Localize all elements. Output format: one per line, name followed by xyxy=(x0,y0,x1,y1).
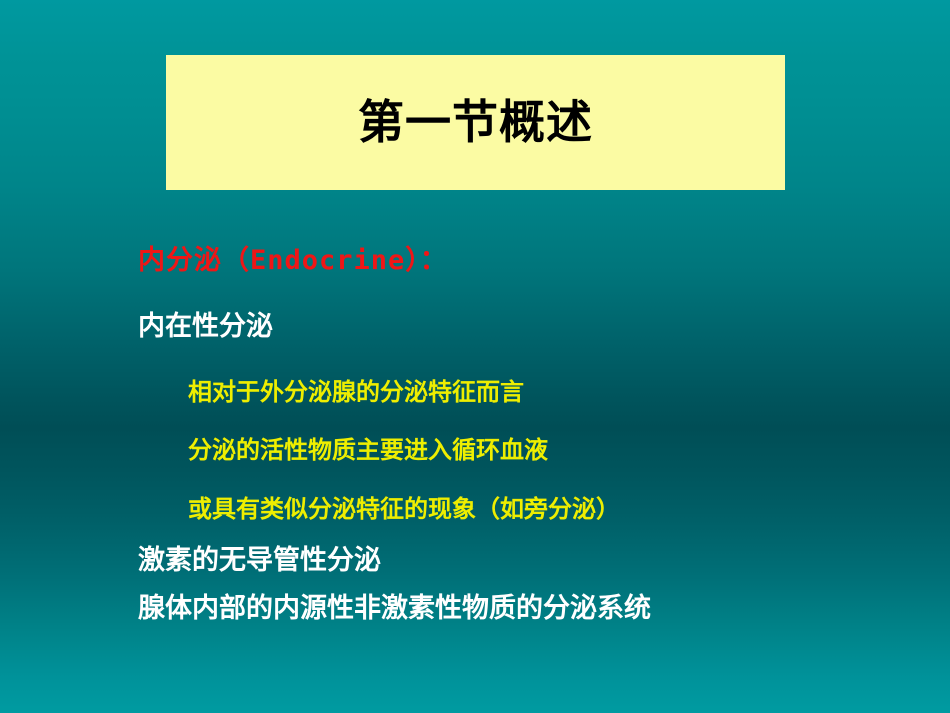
heading-latin-part: （Endocrine）： xyxy=(222,245,448,276)
title-box: 第一节概述 xyxy=(166,55,785,190)
presentation-slide: 第一节概述 内分泌（Endocrine）： 内在性分泌 相对于外分泌腺的分泌特征… xyxy=(0,0,950,713)
body-line-internal-secretion: 内在性分泌 xyxy=(138,304,273,343)
body-line-paracrine: 或具有类似分泌特征的现象（如旁分泌） xyxy=(188,489,620,524)
body-line-exocrine-compare: 相对于外分泌腺的分泌特征而言 xyxy=(188,372,524,407)
body-heading-endocrine: 内分泌（Endocrine）： xyxy=(138,238,448,277)
slide-title: 第一节概述 xyxy=(358,97,593,148)
heading-chinese-part: 内分泌 xyxy=(138,245,222,276)
body-line-gland-internal-system: 腺体内部的内源性非激素性物质的分泌系统 xyxy=(138,586,651,625)
body-line-active-substance: 分泌的活性物质主要进入循环血液 xyxy=(188,430,548,465)
body-line-hormone-ductless: 激素的无导管性分泌 xyxy=(138,538,381,577)
